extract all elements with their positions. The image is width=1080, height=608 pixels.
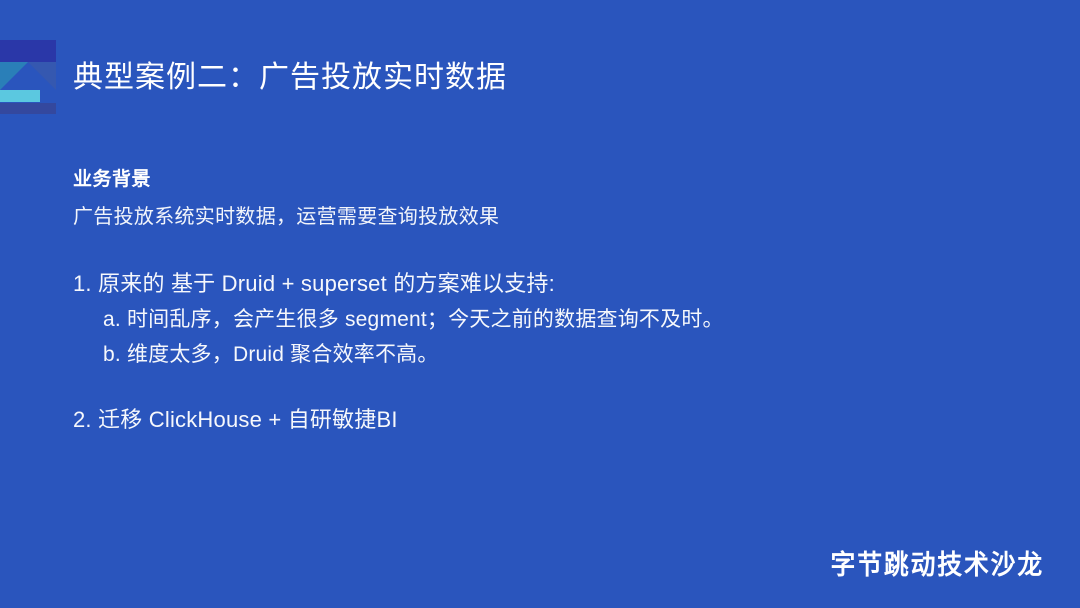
body-content: 业务背景 广告投放系统实时数据，运营需要查询投放效果 1. 原来的 基于 Dru… — [73, 170, 993, 431]
list-item: a. 时间乱序，会产生很多 segment；今天之前的数据查询不及时。 — [103, 309, 993, 330]
page-title: 典型案例二：广告投放实时数据 — [73, 52, 507, 96]
brand-wordmark: 字节跳动技术沙龙 — [831, 543, 1044, 582]
decoration-triangle-right-half — [28, 62, 56, 90]
list-item: 2. 迁移 ClickHouse + 自研敏捷BI — [73, 409, 993, 431]
corner-decoration-mark — [0, 40, 56, 114]
points-list: 1. 原来的 基于 Druid + superset 的方案难以支持: a. 时… — [73, 273, 993, 431]
section-description: 广告投放系统实时数据，运营需要查询投放效果 — [73, 207, 993, 227]
list-item: b. 维度太多，Druid 聚合效率不高。 — [103, 344, 993, 365]
decoration-slate-bar — [0, 103, 56, 114]
list-item: 1. 原来的 基于 Druid + superset 的方案难以支持: — [73, 273, 993, 295]
decoration-navy-bar — [0, 40, 56, 62]
section-heading: 业务背景 — [73, 170, 993, 189]
decoration-triangle-left-half — [0, 62, 28, 90]
slide-canvas: 典型案例二：广告投放实时数据 业务背景 广告投放系统实时数据，运营需要查询投放效… — [0, 0, 1080, 608]
decoration-cyan-bar — [0, 90, 40, 102]
decoration-inverted-triangle-icon — [0, 62, 56, 90]
